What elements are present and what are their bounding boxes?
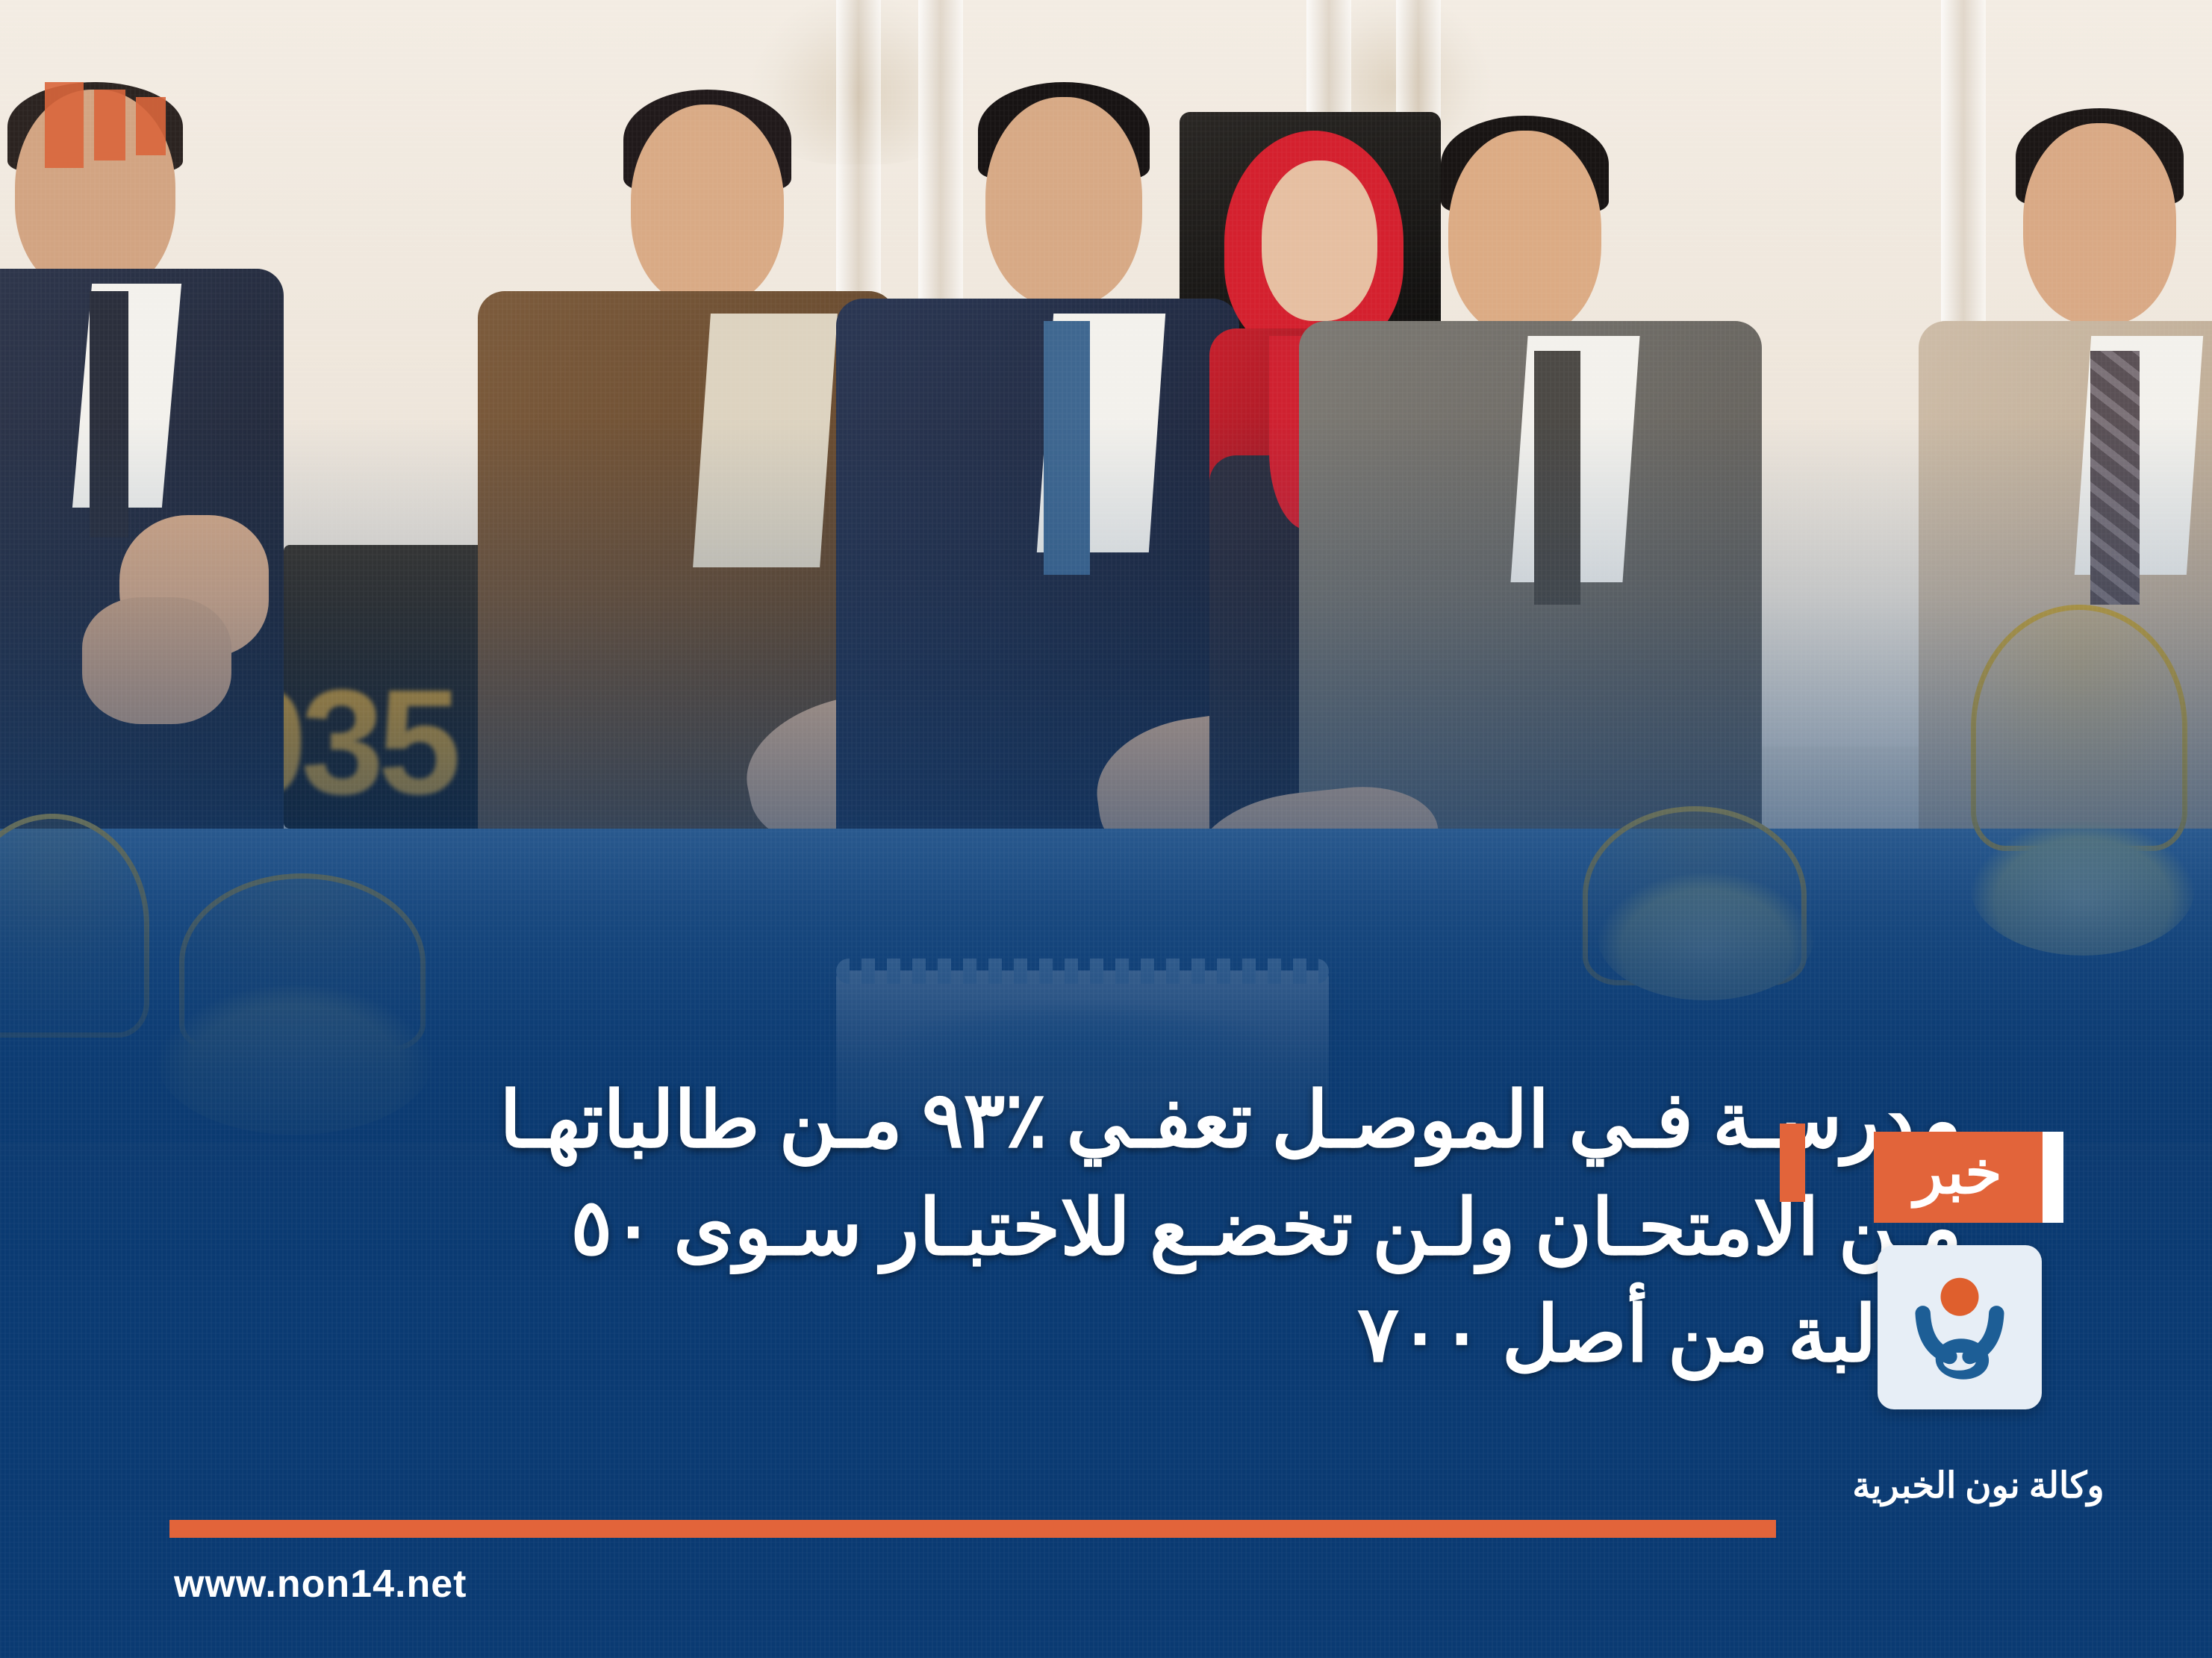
headline-line-3: طالبة من أصل ٧٠٠ (372, 1282, 1962, 1389)
texture-noise-layer (0, 0, 2212, 1658)
headline: مدرسـة فـي الموصـل تعفـي ٪٩٣ مـن طالباته… (372, 1068, 1962, 1389)
news-badge-label: خبر (1874, 1132, 2043, 1223)
watermark-bar-2 (94, 90, 125, 160)
news-badge: خبر (1874, 1132, 2063, 1223)
orange-accent-bar (1780, 1123, 1805, 1202)
website-url[interactable]: www.non14.net (174, 1562, 467, 1606)
news-social-card: 035 (0, 0, 2212, 1658)
headline-line-1: مدرسـة فـي الموصـل تعفـي ٪٩٣ مـن طالباته… (372, 1068, 1962, 1175)
agency-name: وكالة نون الخبرية (1784, 1465, 2172, 1506)
headline-line-2: مـن الامتحـان ولـن تخضـع للاختبـار سـوى … (372, 1175, 1962, 1283)
noon-agency-logo-tile (1878, 1245, 2042, 1409)
watermark-bar-1 (45, 82, 84, 168)
watermark-bar-3 (136, 97, 166, 155)
three-bar-watermark (45, 82, 166, 168)
news-badge-tick (2043, 1132, 2063, 1223)
footer-divider-rule (169, 1520, 1776, 1538)
noon-agency-logo-mark (1896, 1264, 2023, 1391)
